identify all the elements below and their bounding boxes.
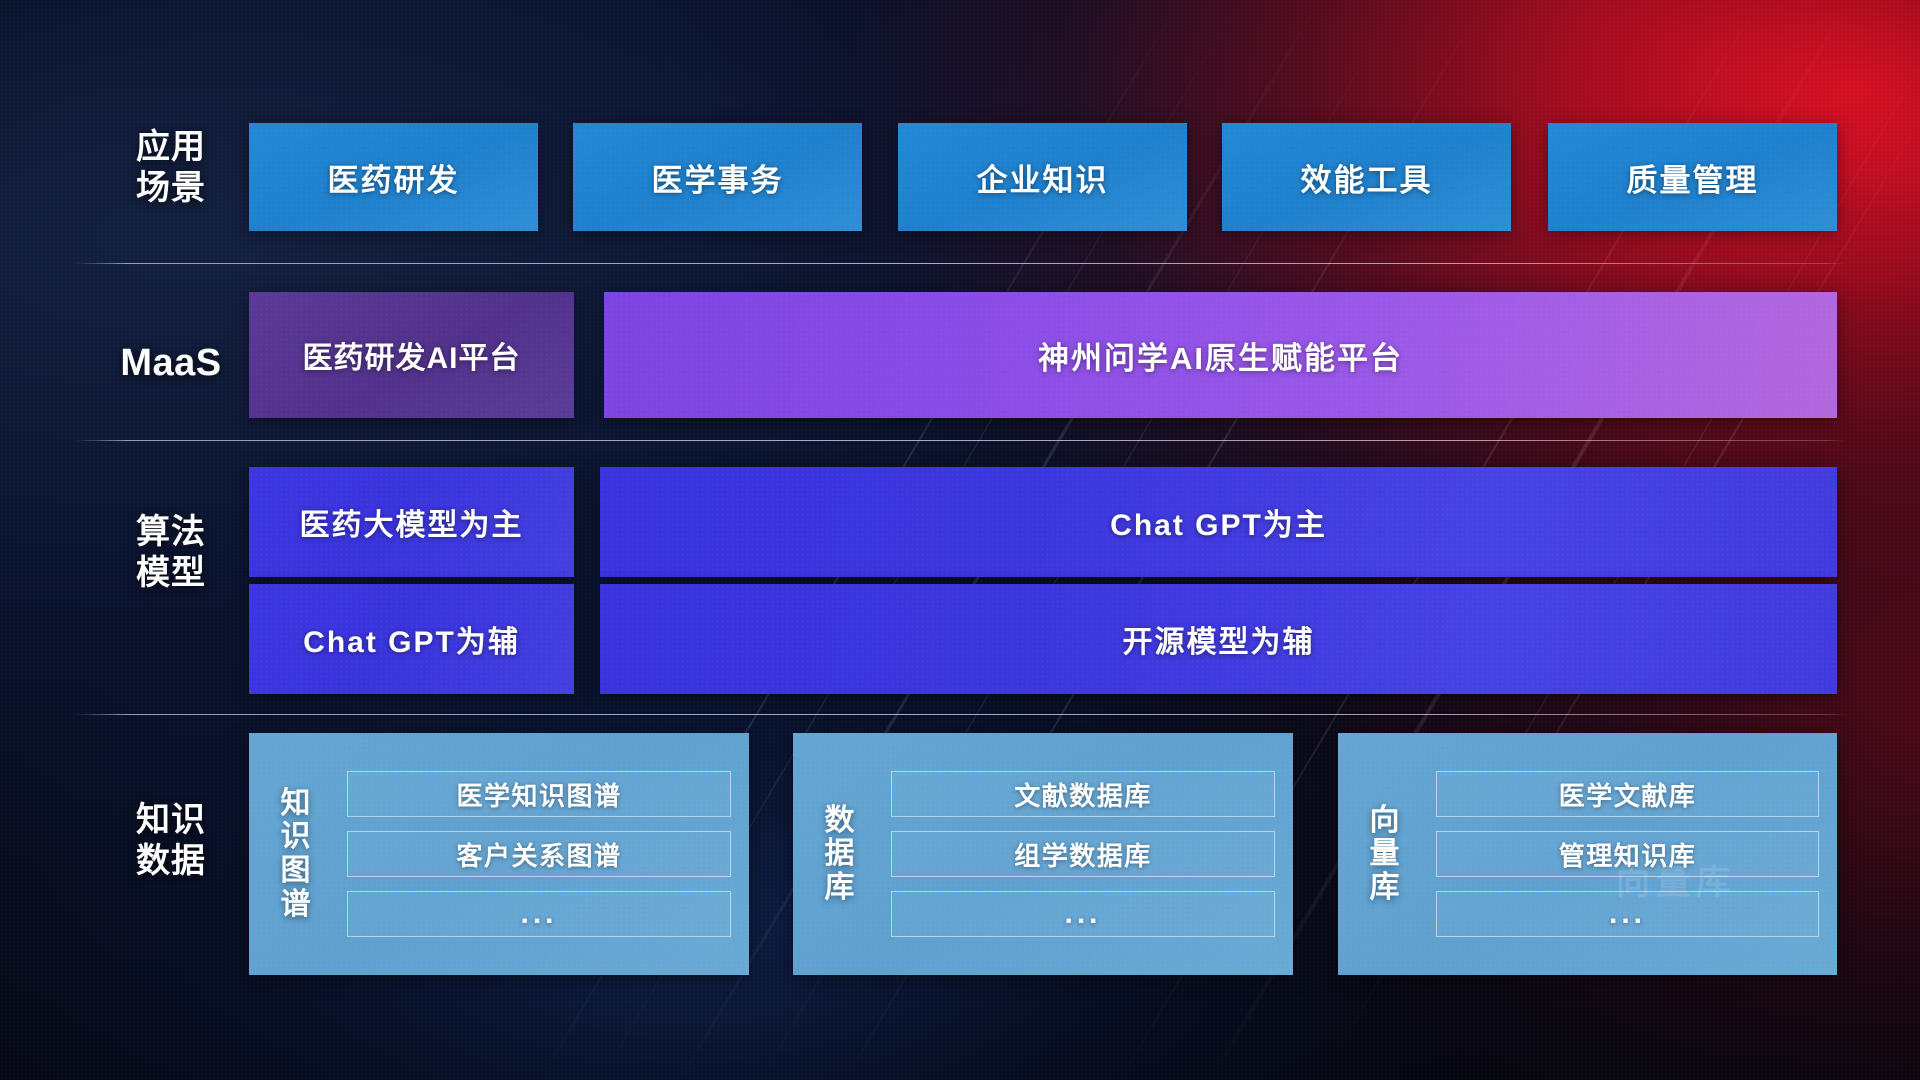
app-scenario-box-2[interactable]: 医学事务: [573, 123, 862, 231]
knowledge-panel-title-char-2-1: 数: [825, 804, 856, 838]
knowledge-item-2-3[interactable]: ...: [891, 891, 1275, 937]
knowledge-panel-knowledge-graph[interactable]: 知 识 图 谱 医学知识图谱 客户关系图谱 ...: [249, 733, 749, 975]
knowledge-panel-title-char-1-2: 识: [281, 820, 312, 854]
architecture-diagram: 应用 场景 医药研发 医学事务 企业知识 效能工具 质量管理 MaaS 医药研发…: [0, 0, 1920, 1080]
app-scenario-label-2: 医学事务: [652, 155, 784, 200]
algo-right-label-2: 开源模型为辅: [1123, 617, 1315, 661]
knowledge-panel-title-3: 向 量 库: [1348, 747, 1422, 961]
algo-right-box-1[interactable]: Chat GPT为主: [600, 467, 1837, 577]
algo-left-label-1: 医药大模型为主: [300, 500, 524, 544]
knowledge-item-3-2[interactable]: 管理知识库: [1436, 831, 1819, 877]
knowledge-panel-title-2: 数 据 库: [803, 747, 877, 961]
knowledge-panel-items-3: 医学文献库 管理知识库 ...: [1422, 747, 1819, 961]
algo-right-label-1: Chat GPT为主: [1110, 500, 1327, 544]
knowledge-item-3-3[interactable]: ...: [1436, 891, 1819, 937]
maas-right-label: 神州问学AI原生赋能平台: [1038, 333, 1403, 378]
divider-2: [75, 440, 1845, 441]
algo-left-box-1[interactable]: 医药大模型为主: [249, 467, 574, 577]
knowledge-panel-title-char-1-1: 知: [281, 787, 312, 821]
row-label-knowledge-data: 知识 数据: [86, 800, 256, 883]
knowledge-item-1-3[interactable]: ...: [347, 891, 731, 937]
maas-right-box[interactable]: 神州问学AI原生赋能平台: [604, 292, 1837, 418]
knowledge-item-1-2[interactable]: 客户关系图谱: [347, 831, 731, 877]
app-scenario-label-3: 企业知识: [977, 155, 1109, 200]
app-scenario-label-5: 质量管理: [1627, 155, 1759, 200]
knowledge-panel-title-char-2-3: 库: [825, 871, 856, 905]
app-scenario-label-4: 效能工具: [1301, 155, 1433, 200]
knowledge-panel-vector-store[interactable]: 向量库 向 量 库 医学文献库 管理知识库 ...: [1338, 733, 1837, 975]
knowledge-item-2-2[interactable]: 组学数据库: [891, 831, 1275, 877]
row-label-application-scenarios: 应用 场景: [86, 127, 256, 210]
knowledge-panel-title-char-1-3: 图: [281, 854, 312, 888]
algo-right-box-2[interactable]: 开源模型为辅: [600, 584, 1837, 694]
knowledge-item-2-1[interactable]: 文献数据库: [891, 771, 1275, 817]
knowledge-item-1-1[interactable]: 医学知识图谱: [347, 771, 731, 817]
divider-1: [75, 263, 1845, 264]
app-scenario-box-1[interactable]: 医药研发: [249, 123, 538, 231]
app-scenario-box-4[interactable]: 效能工具: [1222, 123, 1511, 231]
app-scenario-box-5[interactable]: 质量管理: [1548, 123, 1837, 231]
knowledge-panel-title-char-3-3: 库: [1370, 871, 1401, 905]
knowledge-panel-database[interactable]: 数 据 库 文献数据库 组学数据库 ...: [793, 733, 1293, 975]
knowledge-panel-title-char-2-2: 据: [825, 837, 856, 871]
algo-left-label-2: Chat GPT为辅: [303, 617, 520, 661]
row-label-maas: MaaS: [86, 340, 256, 386]
app-scenario-label-1: 医药研发: [328, 155, 460, 200]
maas-left-label: 医药研发AI平台: [303, 333, 521, 377]
row-label-algorithm-models: 算法 模型: [86, 512, 256, 595]
knowledge-panel-title-1: 知 识 图 谱: [259, 747, 333, 961]
knowledge-panel-title-char-1-4: 谱: [281, 888, 312, 922]
knowledge-panel-title-char-3-2: 量: [1370, 837, 1401, 871]
algo-left-box-2[interactable]: Chat GPT为辅: [249, 584, 574, 694]
divider-3: [75, 714, 1845, 715]
maas-left-box[interactable]: 医药研发AI平台: [249, 292, 574, 418]
knowledge-panel-items-2: 文献数据库 组学数据库 ...: [877, 747, 1275, 961]
knowledge-panel-items-1: 医学知识图谱 客户关系图谱 ...: [333, 747, 731, 961]
knowledge-item-3-1[interactable]: 医学文献库: [1436, 771, 1819, 817]
app-scenario-box-3[interactable]: 企业知识: [898, 123, 1187, 231]
knowledge-panel-title-char-3-1: 向: [1370, 804, 1401, 838]
